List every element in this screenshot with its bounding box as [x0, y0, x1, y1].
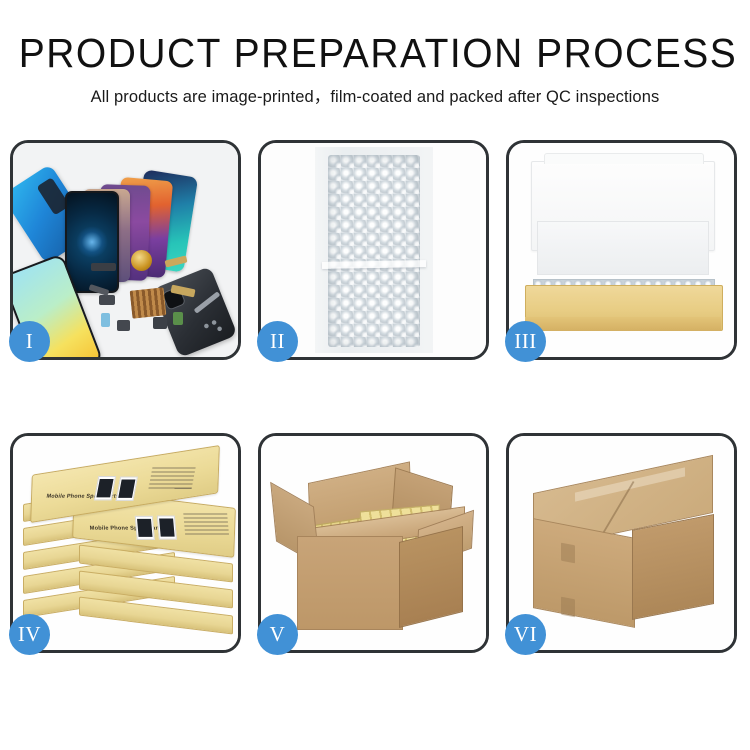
- box-liner: [537, 221, 709, 275]
- small-part-1-icon: [99, 295, 115, 305]
- kraft-box-front-face: [525, 317, 721, 331]
- step-badge-5: V: [257, 614, 298, 655]
- speaker-coil-icon: [131, 250, 152, 271]
- step-badge-3: III: [505, 321, 546, 362]
- page-title: PRODUCT PREPARATION PROCESS: [19, 30, 732, 76]
- sealed-carton-front-face: [533, 518, 635, 628]
- process-step-panel-5: V: [258, 433, 489, 653]
- process-step-panel-6: VI: [506, 433, 737, 653]
- header: PRODUCT PREPARATION PROCESS All products…: [0, 0, 750, 108]
- sealed-carton-tab-top: [561, 543, 575, 564]
- carton-front-face: [297, 536, 403, 630]
- step-5-image: [261, 436, 486, 650]
- sealed-carton-tab-bottom: [561, 597, 575, 618]
- screws-icon: [202, 319, 224, 333]
- process-step-panel-4: Mobile Phone Spare Parts Mobile Phone Sp…: [10, 433, 241, 653]
- box-screen-thumb-2: [116, 476, 138, 500]
- box-stack: Mobile Phone Spare Parts Mobile Phone Sp…: [21, 454, 233, 638]
- step-1-image: [13, 143, 238, 357]
- box-spec-lines-lower: [183, 513, 229, 535]
- part-bar-1-icon: [91, 263, 116, 271]
- step-badge-1: I: [9, 321, 50, 362]
- step-3-image: [509, 143, 734, 357]
- phone-front-screen-icon: [65, 191, 119, 293]
- small-part-5-icon: [173, 312, 183, 325]
- sealed-carton-side-face: [632, 514, 714, 620]
- chip-grid-icon: [130, 287, 167, 318]
- process-step-panel-1: I: [10, 140, 241, 360]
- box-screen-thumb-4: [157, 516, 177, 540]
- process-step-panel-3: III: [506, 140, 737, 360]
- box-spec-lines-upper: [148, 467, 195, 489]
- page-subtitle: All products are image-printed，film-coat…: [0, 86, 750, 108]
- carton-side-face: [399, 526, 463, 628]
- product-preparation-infographic: PRODUCT PREPARATION PROCESS All products…: [0, 0, 750, 750]
- small-part-2-icon: [101, 313, 110, 327]
- process-step-grid: I II III: [10, 140, 740, 653]
- bubble-wrap-icon: [328, 155, 420, 347]
- box-screen-thumb-3: [135, 516, 155, 540]
- process-step-panel-2: II: [258, 140, 489, 360]
- small-part-3-icon: [117, 320, 130, 331]
- step-4-image: Mobile Phone Spare Parts Mobile Phone Sp…: [13, 436, 238, 650]
- step-badge-4: IV: [9, 614, 50, 655]
- step-badge-6: VI: [505, 614, 546, 655]
- step-badge-2: II: [257, 321, 298, 362]
- step-2-image: [261, 143, 486, 357]
- step-6-image: [509, 436, 734, 650]
- small-part-4-icon: [153, 317, 167, 329]
